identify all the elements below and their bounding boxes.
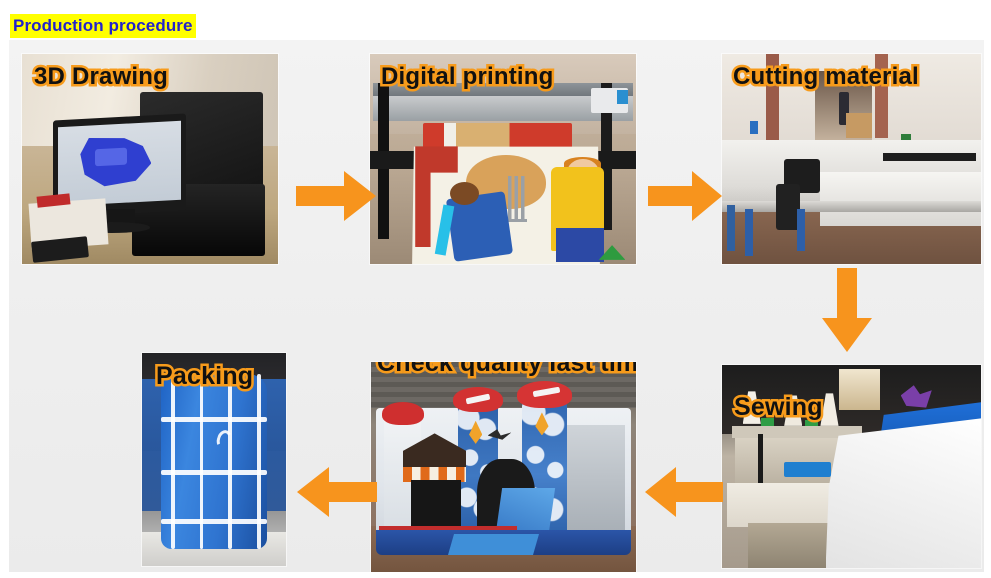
step-card-3d-drawing[interactable]: 3D Drawing xyxy=(22,54,278,264)
step-label-3d-drawing: 3D Drawing xyxy=(34,63,168,91)
step-label-sewing: Sewing xyxy=(734,393,823,422)
step-card-sewing[interactable]: Sewing xyxy=(722,365,981,568)
step-label-packing: Packing xyxy=(156,362,253,391)
step-card-check-quality[interactable]: Check quality last time xyxy=(371,362,636,572)
step-label-digital-printing: Digital printing xyxy=(381,63,554,91)
arrow-left-icon-1 xyxy=(645,465,723,519)
page-title-text: Production procedure xyxy=(10,14,196,38)
arrow-left-icon-2 xyxy=(297,465,377,519)
step-card-cutting-material[interactable]: Cutting material xyxy=(722,54,981,264)
production-procedure-slide: Production procedure 3D Drawing xyxy=(0,0,991,578)
arrow-right-icon-1 xyxy=(296,169,376,223)
diagram-stage: 3D Drawing Digital printing xyxy=(9,40,984,572)
step-label-check-quality: Check quality last time xyxy=(377,362,636,378)
step-label-cutting-material: Cutting material xyxy=(733,63,919,91)
arrow-right-icon-2 xyxy=(648,169,722,223)
photo-check-quality xyxy=(371,362,636,572)
page-title: Production procedure xyxy=(10,14,196,38)
arrow-down-icon xyxy=(820,268,874,352)
step-card-packing[interactable]: Packing xyxy=(142,353,286,566)
step-card-digital-printing[interactable]: Digital printing xyxy=(370,54,636,264)
